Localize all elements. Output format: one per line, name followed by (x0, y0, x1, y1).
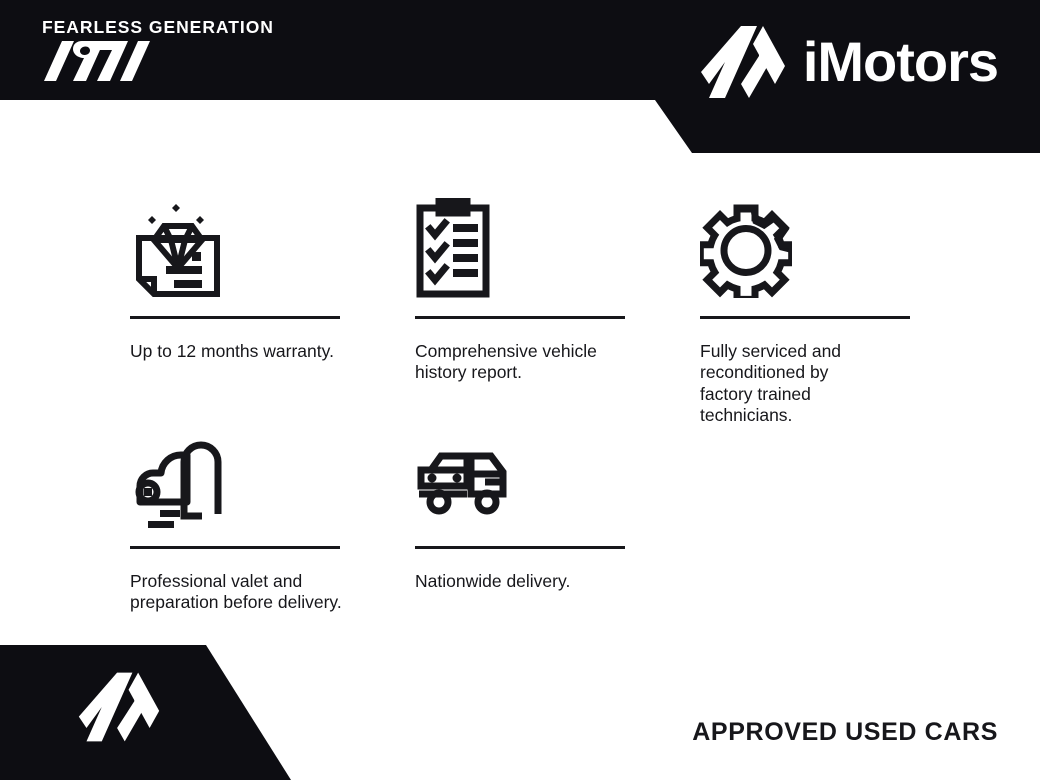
campaign-headline: FEARLESS GENERATION (42, 18, 274, 37)
feature-grid: Up to 12 months warranty. (130, 180, 920, 614)
imotors-chevron-logo-icon (697, 22, 789, 102)
feature-item-valet: Professional valet and preparation befor… (130, 410, 415, 614)
header-banner: FEARLESS GENERATION (0, 0, 1040, 160)
diamond-certificate-icon (130, 180, 415, 298)
footer-banner: APPROVED USED CARS (0, 635, 1040, 780)
promo-poster: FEARLESS GENERATION (0, 0, 1040, 780)
feature-divider (130, 316, 340, 319)
vacuum-cleaner-icon (130, 410, 415, 528)
feature-divider (700, 316, 910, 319)
1971-icon (42, 39, 152, 83)
feature-label: Nationwide delivery. (415, 571, 630, 592)
car-transporter-truck-icon (415, 410, 700, 528)
feature-item-warranty: Up to 12 months warranty. (130, 180, 415, 384)
feature-divider (415, 546, 625, 549)
feature-label: Up to 12 months warranty. (130, 341, 345, 362)
feature-label: Comprehensive vehicle history report. (415, 341, 630, 384)
campaign-lockup: FEARLESS GENERATION (42, 18, 274, 83)
feature-divider (130, 546, 340, 549)
brand-name: iMotors (803, 34, 998, 90)
gear-cog-icon (700, 180, 920, 298)
feature-item-delivery: Nationwide delivery. (415, 410, 700, 614)
brand-lockup: iMotors (697, 22, 998, 102)
feature-label: Professional valet and preparation befor… (130, 571, 345, 614)
header-background-shape (0, 0, 1040, 160)
imotors-chevron-logo-icon (75, 663, 163, 751)
feature-item-history-report: Comprehensive vehicle history report. (415, 180, 700, 384)
clipboard-checklist-icon (415, 180, 700, 298)
feature-item-empty (700, 410, 920, 614)
feature-item-serviced: Fully serviced and reconditioned by fact… (700, 180, 920, 384)
feature-divider (415, 316, 625, 319)
footer-tagline: APPROVED USED CARS (692, 718, 998, 747)
feature-row: Professional valet and preparation befor… (130, 410, 920, 614)
feature-row: Up to 12 months warranty. (130, 180, 920, 384)
